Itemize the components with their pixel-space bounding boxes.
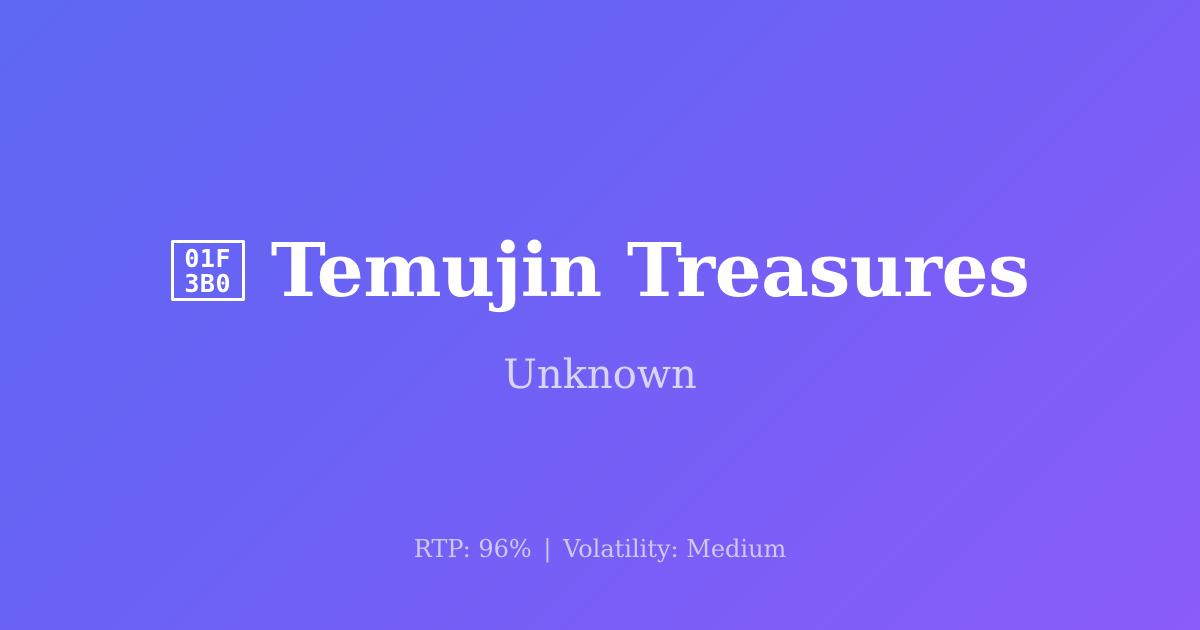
game-stats: RTP: 96% | Volatility: Medium <box>0 535 1200 564</box>
stats-separator: | <box>539 535 555 563</box>
title-row: 01F 3B0 Temujin Treasures <box>0 233 1200 310</box>
slot-machine-icon-hex-bottom: 3B0 <box>184 271 231 296</box>
slot-machine-icon-hex-top: 01F <box>184 246 231 271</box>
rtp-label: RTP: <box>414 535 471 563</box>
rtp-value: 96% <box>478 535 531 563</box>
slot-machine-icon: 01F 3B0 <box>171 240 245 301</box>
volatility-value: Medium <box>686 535 786 563</box>
page-title: Temujin Treasures <box>271 233 1030 310</box>
volatility-label: Volatility: <box>563 535 679 563</box>
provider-label: Unknown <box>503 353 697 397</box>
game-preview-card: 01F 3B0 Temujin Treasures Unknown RTP: 9… <box>0 0 1200 630</box>
